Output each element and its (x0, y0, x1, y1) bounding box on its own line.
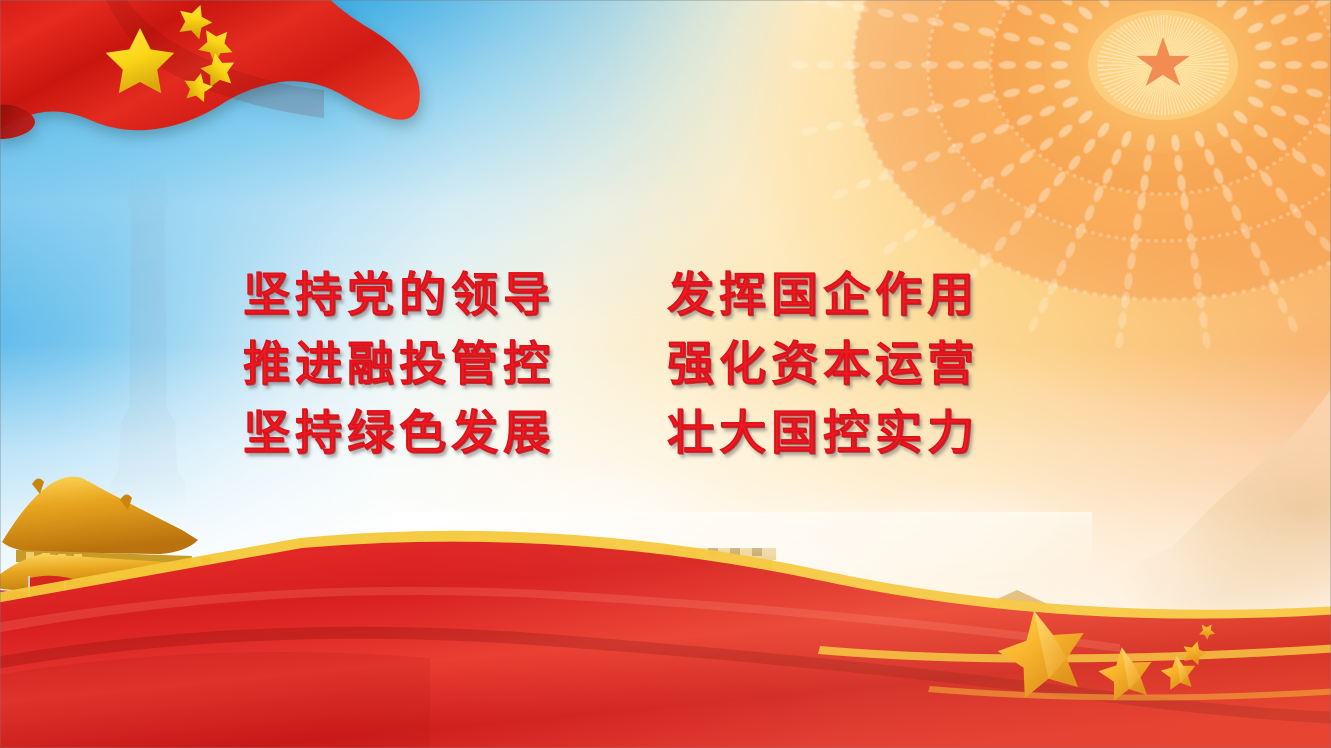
medallion-light-dot (1259, 61, 1276, 69)
gold-star-2-icon (1095, 643, 1157, 703)
medallion-light-dot (817, 61, 834, 69)
gold-star-4-icon (1180, 638, 1209, 667)
medallion-light-dot (1051, 61, 1068, 69)
medallion-light-dot (791, 61, 808, 69)
gold-star-1-icon (991, 606, 1094, 702)
medallion-light-dot (973, 61, 990, 69)
ribbon-left-underlayer (0, 652, 430, 748)
slogan-block: 坚持党的领导 推进融投管控 坚持绿色发展 发挥国企作用 强化资本运营 壮大国控实… (243, 272, 1089, 459)
medallion-light-dot (1285, 61, 1302, 69)
slogan-line-1: 坚持党的领导 (243, 272, 555, 321)
medallion-light-dot (921, 61, 938, 69)
slogan-column-right: 发挥国企作用 强化资本运营 壮大国控实力 (667, 272, 979, 459)
gold-star-5-icon (1197, 620, 1219, 642)
gold-stars-group (977, 606, 1297, 726)
medallion-light-dot (1311, 61, 1328, 69)
slogan-line-5: 强化资本运营 (667, 341, 979, 390)
medallion-light-dot (947, 61, 964, 69)
flag-svg (0, 0, 464, 192)
slogan-line-6: 壮大国控实力 (667, 410, 979, 459)
medallion-light-dot (895, 61, 912, 69)
chinese-flag (0, 0, 464, 192)
medallion-light-dot (1025, 61, 1042, 69)
slogan-line-4: 发挥国企作用 (667, 272, 979, 321)
medallion-light-dot (843, 61, 860, 69)
slogan-column-left: 坚持党的领导 推进融投管控 坚持绿色发展 (243, 272, 555, 459)
poster-canvas: 中华人民共和国万岁 世界人民大团结万岁 (0, 0, 1331, 748)
slogan-line-3: 坚持绿色发展 (243, 410, 555, 459)
gold-stars-svg (977, 606, 1297, 726)
slogan-line-2: 推进融投管控 (243, 341, 555, 390)
medallion-light-dot (999, 61, 1016, 69)
medallion-light-dot (869, 61, 886, 69)
